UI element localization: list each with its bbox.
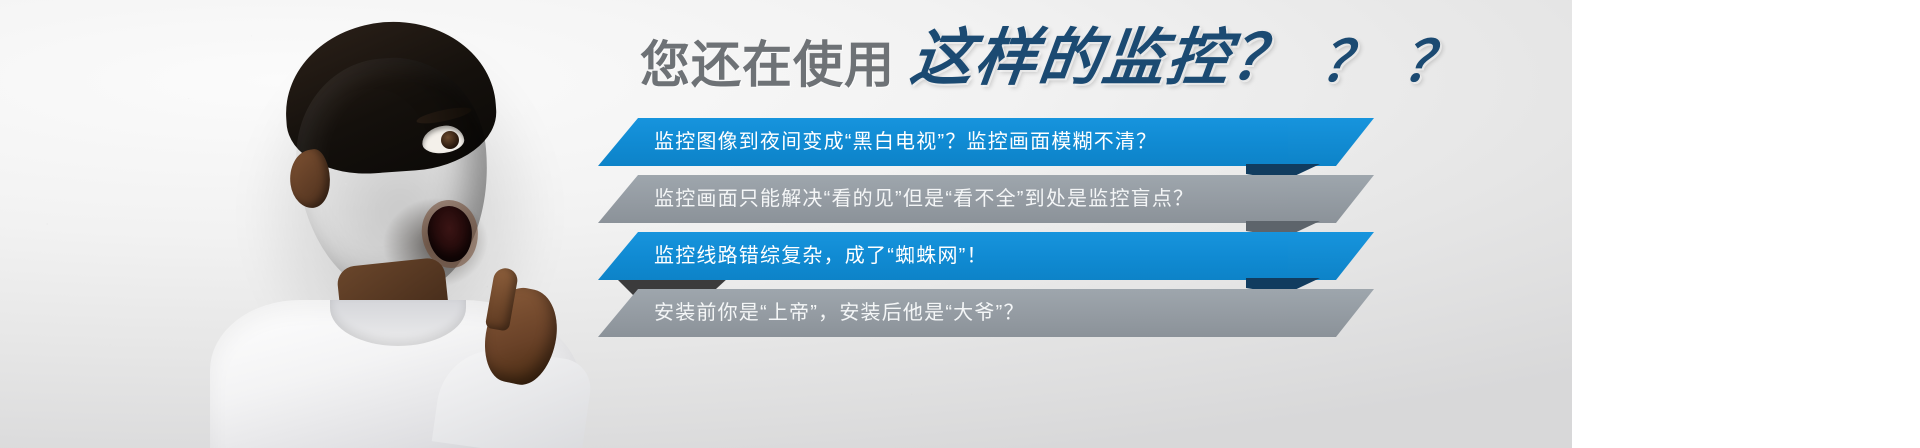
bullet-bar-4-arrow-tip	[1288, 289, 1374, 337]
headline-emphasis: 这样的监控？	[907, 28, 1299, 90]
bullet-bar-1-text: 监控图像到夜间变成“黑白电视”？监控画面模糊不清？	[654, 132, 1157, 152]
bullet-bar-1: 监控图像到夜间变成“黑白电视”？监控画面模糊不清？	[598, 118, 1288, 166]
bullet-bar-4: 安装前你是“上帝”，安装后他是“大爷”？	[598, 289, 1288, 337]
bullet-bar-2-arrow-tip	[1288, 175, 1374, 223]
bullet-bar-3-arrow-tip	[1288, 232, 1374, 280]
bullet-bar-row: 安装前你是“上帝”，安装后他是“大爷”？	[598, 289, 1418, 343]
bullet-bar-2-text: 监控画面只能解决“看的见”但是“看不全”到处是监控盲点？	[654, 189, 1194, 209]
headline: 您还在使用 这样的监控？ ？ ？	[640, 28, 1459, 90]
promo-banner: 您还在使用 这样的监控？ ？ ？ 监控图像到夜间变成“黑白电视”？监控画面模糊不…	[0, 0, 1920, 448]
right-white-fill	[1572, 0, 1920, 448]
headline-lead: 您还在使用	[640, 40, 895, 90]
person-photo	[190, 0, 640, 448]
bullet-bar-row: 监控线路错综复杂，成了“蜘蛛网”！	[598, 232, 1418, 286]
headline-question-mark-2: ？	[1400, 34, 1463, 90]
bullet-bar-row: 监控画面只能解决“看的见”但是“看不全”到处是监控盲点？	[598, 175, 1418, 229]
bullet-bar-row: 监控图像到夜间变成“黑白电视”？监控画面模糊不清？	[598, 118, 1418, 172]
bullet-bar-4-text: 安装前你是“上帝”，安装后他是“大爷”？	[654, 303, 1025, 323]
bullet-bar-3-text: 监控线路错综复杂，成了“蜘蛛网”！	[654, 246, 988, 266]
bullet-bar-list: 监控图像到夜间变成“黑白电视”？监控画面模糊不清？ 监控画面只能解决“看的见”但…	[598, 118, 1418, 346]
pupil	[441, 131, 459, 149]
bullet-bar-2: 监控画面只能解决“看的见”但是“看不全”到处是监控盲点？	[598, 175, 1288, 223]
bullet-bar-1-arrow-tip	[1288, 118, 1374, 166]
headline-question-mark-1: ？	[1318, 34, 1381, 90]
bullet-bar-3: 监控线路错综复杂，成了“蜘蛛网”！	[598, 232, 1288, 280]
